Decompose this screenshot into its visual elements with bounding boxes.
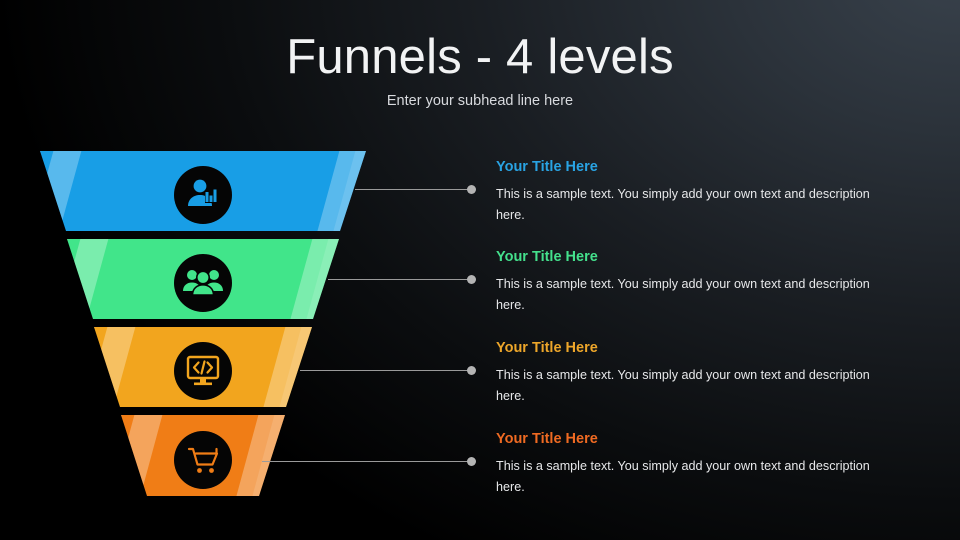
connector-line-4 <box>262 461 470 462</box>
connector-line-1 <box>355 189 470 190</box>
funnel-svg <box>0 0 480 540</box>
funnel-level-4[interactable] <box>80 409 296 505</box>
block-title-4: Your Title Here <box>496 432 900 447</box>
text-block-4: Your Title Here This is a sample text. Y… <box>496 432 900 499</box>
funnel-level-2[interactable] <box>26 233 350 328</box>
text-block-1: Your Title Here This is a sample text. Y… <box>496 160 900 227</box>
block-body-4: This is a sample text. You simply add yo… <box>496 456 900 499</box>
connector-line-3 <box>300 370 470 371</box>
funnel-diagram <box>0 0 480 540</box>
text-block-2: Your Title Here This is a sample text. Y… <box>496 250 900 317</box>
connector-dot-3 <box>467 366 476 375</box>
block-body-3: This is a sample text. You simply add yo… <box>496 365 900 408</box>
block-title-2: Your Title Here <box>496 250 900 265</box>
connector-dot-2 <box>467 275 476 284</box>
funnel-level-1[interactable] <box>0 145 377 240</box>
funnel-level-3[interactable] <box>53 321 323 416</box>
block-title-1: Your Title Here <box>496 160 900 175</box>
block-body-1: This is a sample text. You simply add yo… <box>496 184 900 227</box>
slide-canvas: Funnels - 4 levels Enter your subhead li… <box>0 0 960 540</box>
funnel-level-1-icon-circle <box>174 166 232 224</box>
text-block-3: Your Title Here This is a sample text. Y… <box>496 341 900 408</box>
connector-dot-4 <box>467 457 476 466</box>
connector-dot-1 <box>467 185 476 194</box>
connector-line-2 <box>328 279 470 280</box>
block-body-2: This is a sample text. You simply add yo… <box>496 274 900 317</box>
funnel-level-4-icon-circle <box>174 431 232 489</box>
block-title-3: Your Title Here <box>496 341 900 356</box>
